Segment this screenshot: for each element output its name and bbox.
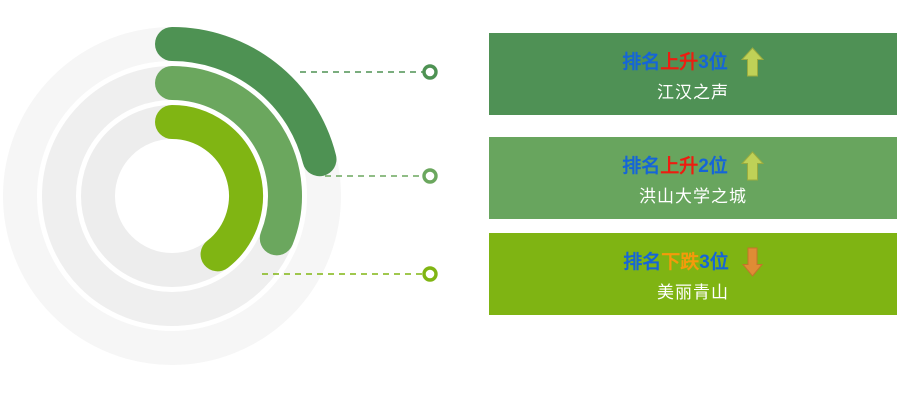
rank-cards-panel: 排名 上升 3位 江汉之声 排名 上升 2位 洪山大学之城 — [489, 0, 897, 406]
headline-prefix: 排名 — [622, 53, 660, 72]
headline-prefix: 排名 — [623, 253, 661, 272]
headline-action: 上升 — [660, 157, 698, 176]
headline-prefix: 排名 — [622, 157, 660, 176]
rank-card-hongshan[interactable]: 排名 上升 2位 洪山大学之城 — [489, 137, 897, 219]
headline-action: 上升 — [660, 53, 698, 72]
arrow-down-icon — [742, 247, 763, 277]
headline-suffix: 2位 — [698, 157, 728, 176]
arrow-up-icon — [741, 151, 764, 181]
end-dot-outer[interactable] — [424, 66, 436, 78]
gauge-arc-inner — [172, 122, 246, 254]
rank-card-qingshan[interactable]: 排名 下跌 3位 美丽青山 — [489, 233, 897, 315]
card-headline: 排名 上升 2位 — [622, 151, 764, 181]
gauge-enddot-group — [424, 66, 436, 280]
headline-action: 下跌 — [661, 253, 699, 272]
gauge-arc-group — [172, 44, 319, 254]
rank-card-jianghan[interactable]: 排名 上升 3位 江汉之声 — [489, 33, 897, 115]
card-subtitle: 洪山大学之城 — [639, 188, 747, 205]
headline-suffix: 3位 — [698, 53, 728, 72]
arrow-up-icon — [741, 47, 764, 77]
card-subtitle: 美丽青山 — [657, 284, 729, 301]
headline-suffix: 3位 — [699, 253, 729, 272]
radial-gauge-panel — [0, 0, 470, 406]
card-headline: 排名 下跌 3位 — [623, 247, 763, 277]
radial-gauge-chart — [0, 0, 470, 406]
end-dot-middle[interactable] — [424, 170, 436, 182]
card-subtitle: 江汉之声 — [657, 84, 729, 101]
end-dot-inner[interactable] — [424, 268, 436, 280]
card-headline: 排名 上升 3位 — [622, 47, 764, 77]
